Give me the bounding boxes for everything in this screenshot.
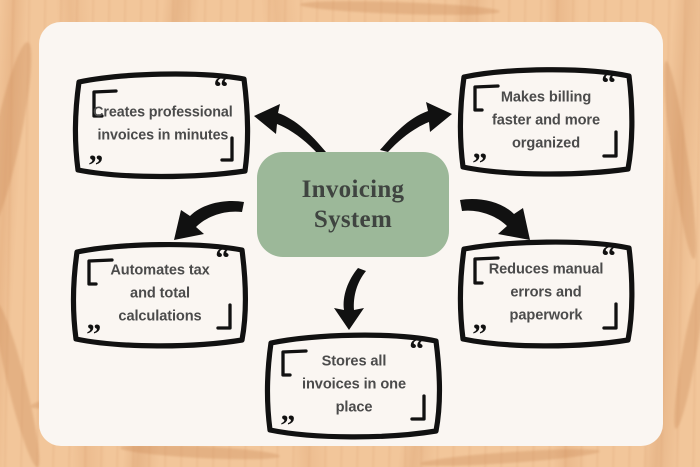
quote-box-bottom-left[interactable]: “ ” Automates tax and total calculations [70,239,250,349]
open-quote-icon: “ [214,73,229,103]
close-quote-icon: ” [88,151,103,181]
diagram-canvas: Invoicing System “ ” Creates professiona… [0,0,700,467]
quote-box-top-left[interactable]: “ ” Creates professional invoices in min… [72,68,252,180]
quote-box-text: Stores all invoices in one place [280,350,428,419]
quote-box-text: Reduces manual errors and paperwork [472,258,620,327]
wood-vein [669,280,700,430]
quote-box-text: Makes billing faster and more organized [472,86,620,155]
center-node-label: Invoicing System [302,175,405,234]
quote-box-top-right[interactable]: “ ” Makes billing faster and more organi… [456,64,636,178]
center-node-invoicing-system[interactable]: Invoicing System [257,152,449,257]
quote-box-bottom-right[interactable]: “ ” Reduces manual errors and paperwork [456,237,636,349]
quote-box-text: Automates tax and total calculations [86,259,234,328]
wood-vein [0,39,41,240]
quote-box-bottom-center[interactable]: “ ” Stores all invoices in one place [264,330,444,440]
wood-vein [658,60,700,260]
wood-vein [300,0,500,17]
wood-vein [420,446,600,467]
quote-box-text: Creates professional invoices in minutes [79,101,246,146]
